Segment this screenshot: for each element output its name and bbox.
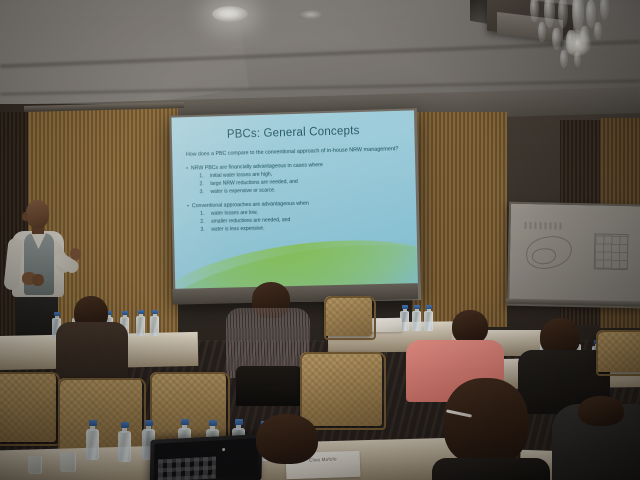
slide-title: PBCs: General Concepts <box>185 124 402 142</box>
slide-sub-1-1-num: 1. <box>199 173 205 181</box>
curtain-middle <box>412 112 507 327</box>
attendee-pink-head <box>452 310 488 344</box>
water-bottle <box>412 305 421 331</box>
attendee-foreground-center-head <box>256 414 318 464</box>
chair-mid-2 <box>300 352 382 426</box>
chair-back-left-1 <box>0 372 56 442</box>
water-bottle <box>118 422 131 462</box>
laptop-keyboard[interactable] <box>158 456 216 480</box>
slide-sub-1-2-num: 2. <box>199 181 205 189</box>
slide-sub-1-3-num: 3. <box>200 189 206 197</box>
slide-sub-2-3-num: 3. <box>200 226 206 234</box>
bullet-glyph-icon-2: • <box>187 203 189 211</box>
slide-lead-question: How does a PBC compare to the convention… <box>186 145 403 159</box>
presenter-head <box>26 200 49 228</box>
whiteboard-handwriting-icon <box>525 222 565 230</box>
drinking-glass <box>28 456 42 474</box>
slide-block-2: • Conventional approaches are advantageo… <box>187 198 404 234</box>
attendee-glasses-torso <box>432 458 550 480</box>
laptop[interactable] <box>150 434 263 480</box>
presenter-ear <box>22 212 28 221</box>
slide-sub-2-2-num: 2. <box>200 219 206 227</box>
drinking-glass <box>60 452 76 472</box>
whiteboard <box>507 202 640 309</box>
slide-sub-1-3-text: water is expensive or scarce. <box>210 187 275 196</box>
attendee-striped-lower <box>236 366 302 406</box>
water-bottle <box>424 305 433 331</box>
conference-room-scene: PBCs: General Concepts How does a PBC co… <box>0 0 640 480</box>
slide-accent-swoosh <box>171 225 418 289</box>
presentation-slide: PBCs: General Concepts How does a PBC co… <box>171 110 418 289</box>
slide-sub-2-1-num: 1. <box>200 211 206 219</box>
attendee-foreground-right-head <box>578 396 624 426</box>
slide-sub-2-3-text: water is less expensive. <box>211 225 264 234</box>
attendee-glasses-head <box>444 378 528 464</box>
water-bottle <box>136 310 145 336</box>
chandelier-icon <box>520 0 640 74</box>
chair-back-right-1 <box>324 296 372 336</box>
slide-block-1: • NRW PBCs are financially advantageous … <box>186 160 403 197</box>
water-bottle <box>150 310 159 336</box>
ceiling-light-icon <box>212 6 248 22</box>
presenter-left-hand-fingers <box>32 274 44 286</box>
bullet-glyph-icon: • <box>186 166 188 174</box>
chair-back-right-2 <box>596 330 640 372</box>
whiteboard-grid-table-icon <box>594 233 629 270</box>
water-bottle <box>86 420 99 460</box>
ceiling-light-secondary-icon <box>300 10 322 19</box>
